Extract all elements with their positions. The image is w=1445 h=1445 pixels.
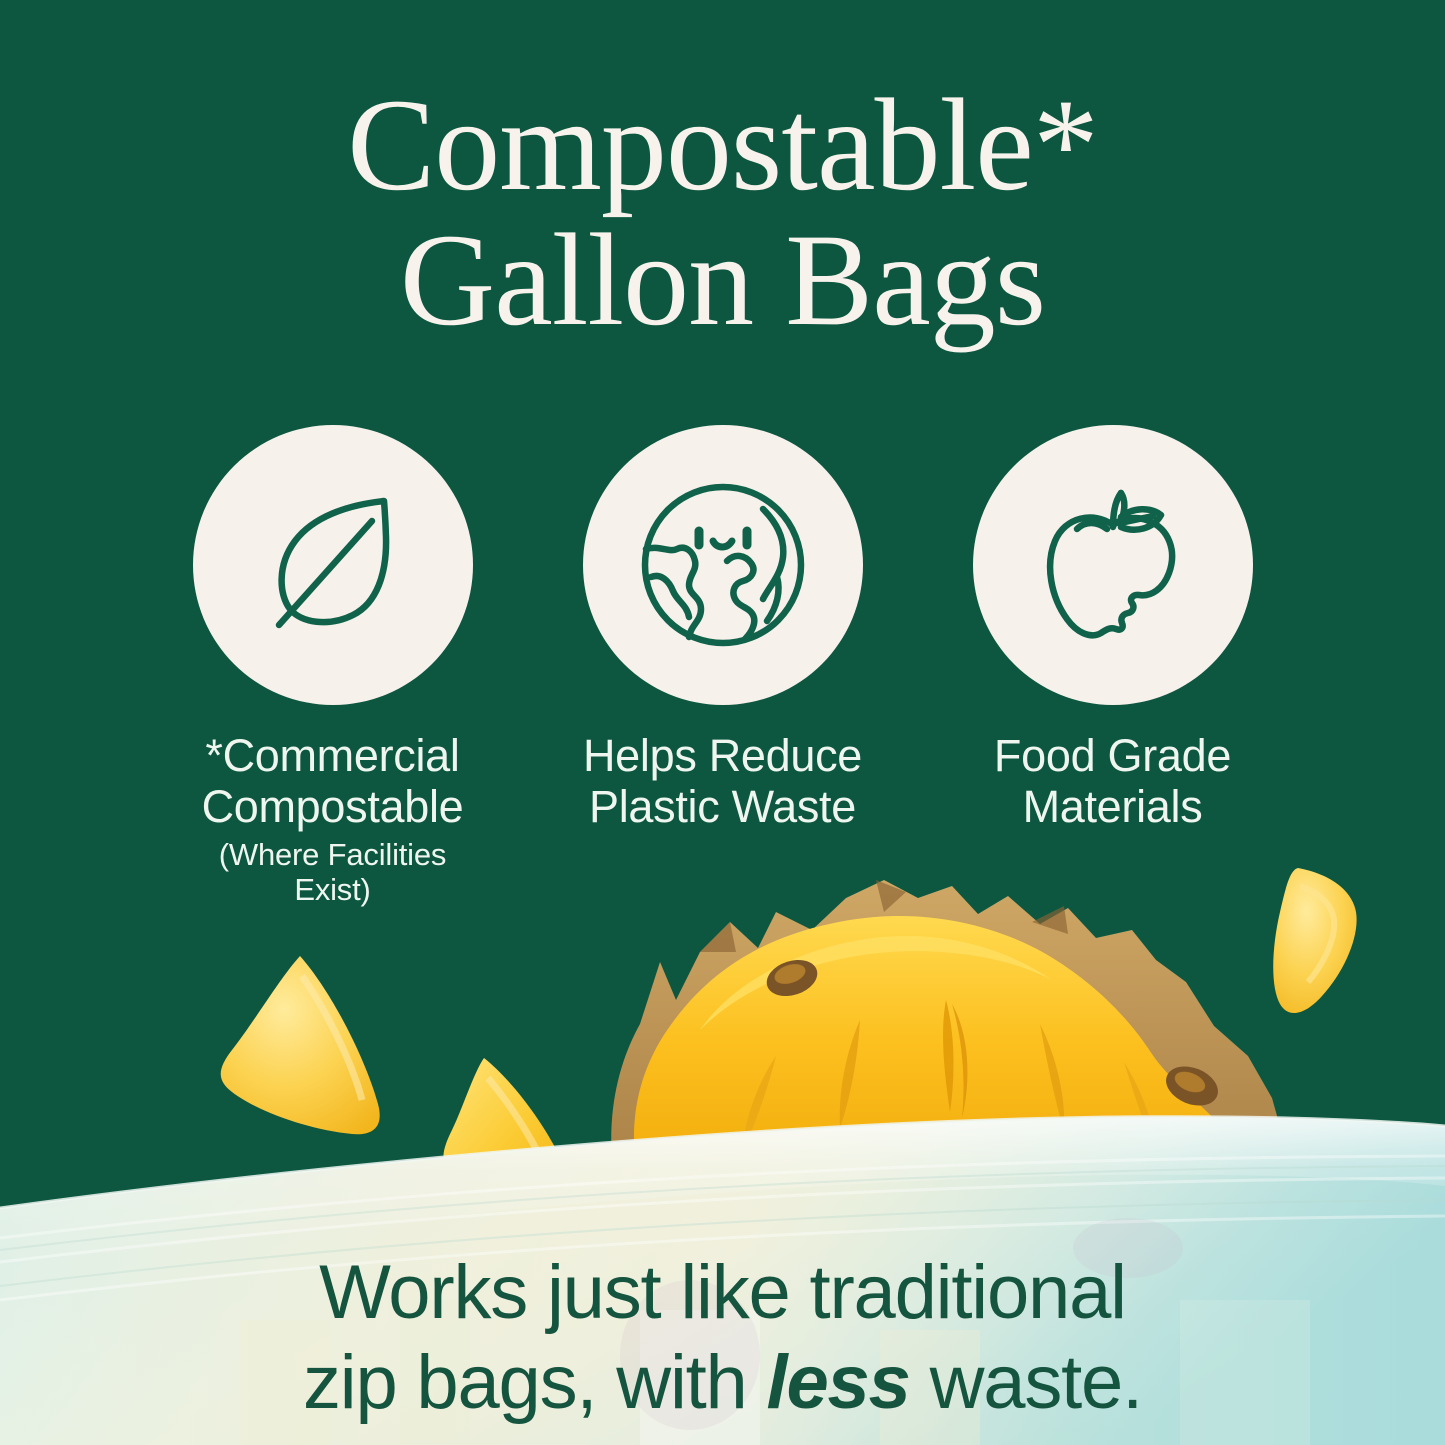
bitten-apple-icon [1021, 473, 1205, 657]
leaf-icon [243, 475, 423, 655]
feature-list: *Commercial Compostable (Where Facilitie… [0, 425, 1445, 908]
feature-caption: Food Grade Materials [994, 731, 1231, 833]
smiling-earth-icon [631, 473, 815, 657]
headline-line-2: Gallon Bags [0, 213, 1445, 348]
tagline-text-before: zip bags, with [303, 1340, 767, 1425]
pineapple-slice [611, 880, 1288, 1195]
badge-circle [973, 425, 1253, 705]
tagline-line-2: zip bags, with less waste. [0, 1338, 1445, 1428]
feature-item-food-grade: Food Grade Materials [973, 425, 1253, 908]
feature-caption: *Commercial Compostable [202, 731, 464, 833]
tagline-emphasis: less [767, 1340, 910, 1425]
feature-caption: Helps Reduce Plastic Waste [583, 731, 862, 833]
product-marketing-image: Compostable* Gallon Bags *Commercial Com… [0, 0, 1445, 1445]
feature-subcaption: (Where Facilities Exist) [193, 837, 473, 908]
pineapple-chunk-left-near [443, 1058, 568, 1200]
tagline: Works just like traditional zip bags, wi… [0, 1248, 1445, 1427]
badge-circle [193, 425, 473, 705]
tagline-text-after: waste. [910, 1340, 1142, 1425]
tagline-line-1: Works just like traditional [0, 1248, 1445, 1338]
headline-line-1: Compostable* [0, 78, 1445, 213]
feature-item-compostable: *Commercial Compostable (Where Facilitie… [193, 425, 473, 908]
feature-item-plastic-waste: Helps Reduce Plastic Waste [583, 425, 863, 908]
pineapple-chunk-left-far [221, 956, 380, 1134]
badge-circle [583, 425, 863, 705]
page-title: Compostable* Gallon Bags [0, 78, 1445, 347]
